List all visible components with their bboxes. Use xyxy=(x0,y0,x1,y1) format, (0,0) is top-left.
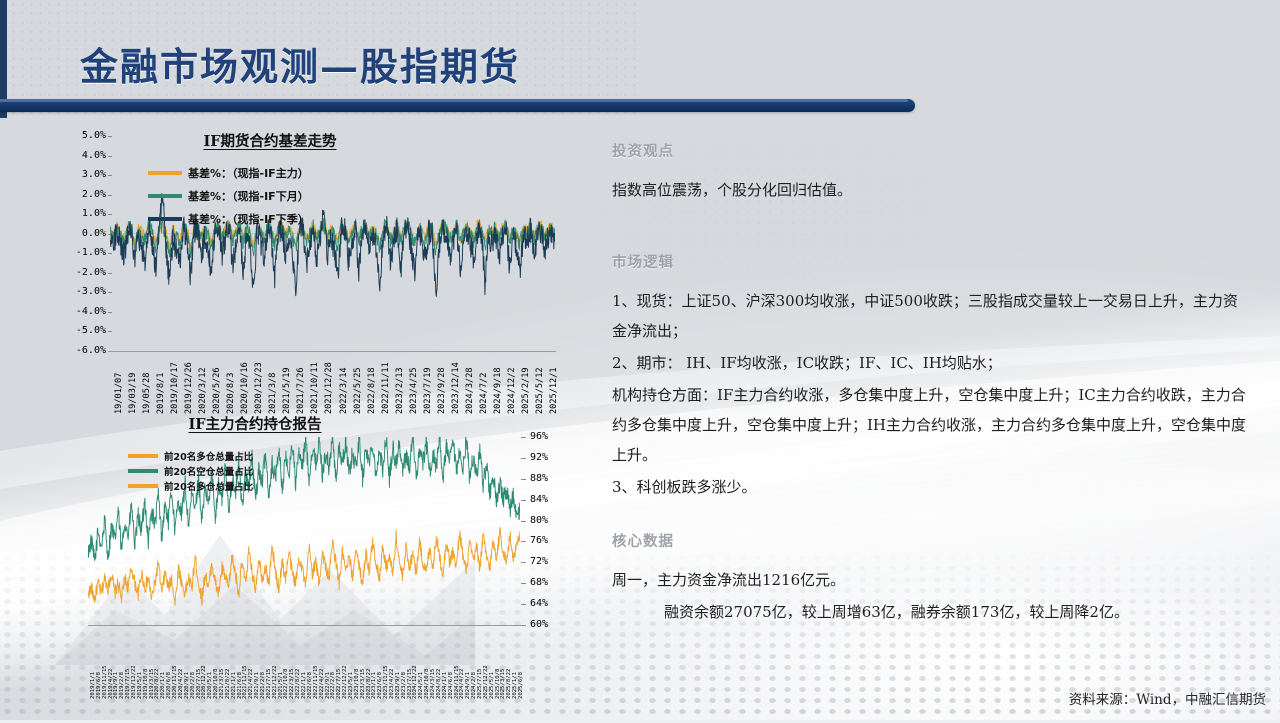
chart-positions-x-tick-label: 2024/6/8 xyxy=(448,672,454,699)
chart-positions-x-axis-labels: 2019/1/12019/6/82019/11/152019/4/222019/… xyxy=(88,629,523,701)
chart-positions-x-tick-label: 2024/8/22 xyxy=(436,669,442,699)
chart-positions-y-tick-label: 84% xyxy=(530,494,564,505)
legend-label: 基差%：（现指-IF主力） xyxy=(188,165,309,181)
chart-positions-legend-item: 前20名多仓总量占比 xyxy=(128,479,253,493)
chart-basis-x-tick-label: 2024/12/2 xyxy=(507,367,517,414)
chart-basis-x-tick-label: 2023/9/28 xyxy=(437,367,447,414)
chart-positions-x-tick-label: 2021/7/15 xyxy=(266,669,272,699)
source-note: 资料来源：Wind，中融汇信期货 xyxy=(1069,688,1266,708)
chart-basis-x-tick-label: 2024/3/28 xyxy=(465,367,475,414)
market-logic-institutional-positions: 机构持仓方面：IF主力合约收涨，多仓集中度上升，空仓集中度上升；IC主力合约收跌… xyxy=(612,380,1252,470)
chart-positions-x-tick-label: 2023/2/8 xyxy=(401,672,407,699)
chart-basis-y-tick-label: -6.0% xyxy=(58,345,106,356)
chart-basis-x-tick-label: 2020/3/12 xyxy=(198,367,208,414)
chart-basis-x-tick-label: 2023/4/25 xyxy=(409,367,419,414)
chart-positions-y-tick xyxy=(521,458,526,459)
legend-label: 基差%：（现指-IF下月） xyxy=(188,188,309,204)
chart-basis-x-tick-label: 19/01/07 xyxy=(114,373,124,414)
chart-positions-y-tick xyxy=(521,479,526,480)
market-logic-point-2: 2、期市： IH、IF均收涨，IC收跌；IF、IC、IH均贴水； xyxy=(612,348,1252,378)
chart-positions-x-tick-label: 2023/10/8 xyxy=(354,669,360,699)
market-logic-point-1: 1、现货：上证50、沪深300均收涨，中证500收跌；三股指成交量较上一交易日上… xyxy=(612,286,1252,346)
chart-basis-x-tick-label: 2020/8/3 xyxy=(226,373,236,414)
legend-label: 前20名多仓总量占比 xyxy=(164,479,253,493)
chart-positions-y-tick-label: 64% xyxy=(530,598,564,609)
chart-positions-x-tick-label: 2025/12/22 xyxy=(483,665,489,699)
chart-basis-x-tick-label: 2022/5/25 xyxy=(353,367,363,414)
chart-positions-x-tick-label: 2025/6/8 xyxy=(518,672,523,699)
chart-basis-y-tick-label: 3.0% xyxy=(58,169,106,180)
chart-basis-x-tick-label: 2024/9/18 xyxy=(493,367,503,414)
section-heading-investment-view: 投资观点 xyxy=(612,140,1252,161)
investment-view-text: 指数高位震荡，个股分化回归估值。 xyxy=(612,175,1252,205)
chart-positions-x-tick-label: 2023/3/15 xyxy=(360,669,366,699)
chart-basis-x-tick-label: 2024/7/2 xyxy=(479,373,489,414)
chart-positions-y-tick xyxy=(521,562,526,563)
chart-positions-axis-line xyxy=(88,625,522,626)
chart-positions-x-tick-label: 2025/5/1 xyxy=(489,672,495,699)
chart-basis-x-tick-label: 2023/12/14 xyxy=(451,362,461,414)
chart-positions-x-tick-label: 2024/1/1 xyxy=(442,672,448,699)
chart-positions-x-tick-label: 2022/4/22 xyxy=(319,669,325,699)
chart-positions-y-tick xyxy=(521,604,526,605)
chart-positions-y-tick-label: 88% xyxy=(530,473,564,484)
chart-basis-legend-item: 基差%：（现指-IF下季） xyxy=(148,211,309,227)
chart-basis: IF期货合约基差走势 5.0%4.0%3.0%2.0%1.0%0.0%-1.0%… xyxy=(0,118,580,418)
chart-positions-y-tick-label: 80% xyxy=(530,515,564,526)
chart-positions-y-tick xyxy=(521,500,526,501)
chart-positions-legend-item: 前20名空仓总量占比 xyxy=(128,464,253,478)
chart-basis-x-tick-label: 2022/3/14 xyxy=(339,367,349,414)
chart-basis-x-tick-label: 2025/12/1 xyxy=(549,367,558,414)
chart-positions-x-tick-label: 2020/2/8 xyxy=(190,672,196,699)
chart-positions-y-tick xyxy=(521,437,526,438)
chart-basis-x-tick-label: 2019/8/1 xyxy=(156,373,166,414)
legend-color-swatch xyxy=(128,484,158,488)
analysis-panel: 投资观点 指数高位震荡，个股分化回归估值。 市场逻辑 1、现货：上证50、沪深3… xyxy=(612,140,1252,629)
chart-positions-x-tick-label: 2019/5/1 xyxy=(137,672,143,699)
chart-basis-y-tick-label: -5.0% xyxy=(58,325,106,336)
section-heading-core-data: 核心数据 xyxy=(612,530,1252,551)
page-title: 金融市场观测—股指期货 xyxy=(80,36,520,91)
legend-color-swatch xyxy=(148,194,182,198)
chart-basis-axis-line xyxy=(108,351,556,352)
chart-positions-y-tick xyxy=(521,521,526,522)
core-data-line-2: 融资余额27075亿，较上周增63亿，融券余额173亿，较上周降2亿。 xyxy=(612,597,1252,627)
chart-basis-x-tick-label: 2021/10/11 xyxy=(310,362,320,414)
chart-positions-x-tick-label: 2019/6/8 xyxy=(96,672,102,699)
chart-positions-legend-item: 前20名多仓总量占比 xyxy=(128,449,253,463)
legend-label: 前20名空仓总量占比 xyxy=(164,464,253,478)
chart-positions: IF主力合约持仓报告 96%92%88%84%80%76%72%68%64%60… xyxy=(0,413,580,723)
chart-basis-x-tick-label: 2025/2/19 xyxy=(521,367,531,414)
legend-color-swatch xyxy=(148,171,182,175)
chart-basis-x-tick-label: 2021/7/26 xyxy=(296,367,306,414)
chart-positions-y-tick-label: 68% xyxy=(530,577,564,588)
chart-basis-y-tick-label: 2.0% xyxy=(58,189,106,200)
chart-basis-x-tick-label: 2020/12/23 xyxy=(254,362,264,414)
chart-basis-y-tick-label: 4.0% xyxy=(58,150,106,161)
section-heading-market-logic: 市场逻辑 xyxy=(612,251,1252,272)
chart-basis-x-tick-label: 2025/5/12 xyxy=(535,367,545,414)
market-logic-point-3: 3、科创板跌多涨少。 xyxy=(612,472,1252,502)
chart-basis-y-tick-label: 1.0% xyxy=(58,208,106,219)
spacer xyxy=(612,504,1252,530)
title-underline-highlight xyxy=(0,99,908,102)
chart-basis-legend-item: 基差%：（现指-IF下月） xyxy=(148,188,309,204)
legend-color-swatch xyxy=(148,217,182,221)
chart-basis-y-tick-label: -4.0% xyxy=(58,306,106,317)
chart-positions-x-tick-label: 2020/9/1 xyxy=(184,672,190,699)
chart-basis-x-tick-label: 19/05/28 xyxy=(142,373,152,414)
chart-positions-x-tick-label: 2021/8/22 xyxy=(225,669,231,699)
legend-label: 前20名多仓总量占比 xyxy=(164,449,253,463)
chart-basis-x-tick-label: 2021/5/19 xyxy=(282,367,292,414)
chart-positions-y-tick xyxy=(521,541,526,542)
chart-basis-x-tick-label: 2020/10/16 xyxy=(240,362,250,414)
title-band: 金融市场观测—股指期货 xyxy=(0,0,1280,118)
chart-basis-x-tick-label: 2020/5/26 xyxy=(212,367,222,414)
chart-positions-y-tick-label: 76% xyxy=(530,535,564,546)
chart-basis-y-tick-label: -1.0% xyxy=(58,247,106,258)
charts-column: IF期货合约基差走势 5.0%4.0%3.0%2.0%1.0%0.0%-1.0%… xyxy=(0,118,580,718)
legend-color-swatch xyxy=(128,454,158,458)
chart-basis-y-tick-label: 0.0% xyxy=(58,228,106,239)
legend-color-swatch xyxy=(128,469,158,473)
chart-positions-x-tick-label: 2023/9/1 xyxy=(395,672,401,699)
chart-basis-x-tick-label: 2022/8/18 xyxy=(367,367,377,414)
chart-basis-x-tick-label: 2021/12/28 xyxy=(324,362,334,414)
chart-positions-x-tick-label: 2019/11/15 xyxy=(102,665,108,699)
chart-basis-x-tick-label: 2022/11/11 xyxy=(381,362,391,414)
chart-basis-x-tick-label: 2019/10/17 xyxy=(170,362,180,414)
chart-positions-x-tick-label: 2021/1/1 xyxy=(231,672,237,699)
chart-basis-x-tick-label: 2021/3/8 xyxy=(268,373,278,414)
chart-basis-y-tick-label: 5.0% xyxy=(58,130,106,141)
chart-basis-x-tick-label: 2023/7/19 xyxy=(423,367,433,414)
chart-positions-y-tick-label: 60% xyxy=(530,619,564,630)
spacer xyxy=(612,207,1252,251)
chart-positions-x-tick-label: 2019/10/8 xyxy=(143,669,149,699)
core-data-line-1: 周一，主力资金净流出1216亿元。 xyxy=(612,565,1252,595)
chart-basis-x-tick-label: 19/03/19 xyxy=(128,373,138,414)
chart-basis-legend-item: 基差%：（现指-IF主力） xyxy=(148,165,309,181)
chart-positions-y-tick-label: 92% xyxy=(530,452,564,463)
chart-positions-y-tick-label: 96% xyxy=(530,431,564,442)
chart-basis-x-axis-labels: 19/01/0719/03/1919/05/282019/8/12019/10/… xyxy=(108,354,558,416)
chart-positions-y-tick-label: 72% xyxy=(530,556,564,567)
chart-positions-x-tick-label: 2021/12/22 xyxy=(272,665,278,699)
chart-basis-y-tick-label: -2.0% xyxy=(58,267,106,278)
chart-positions-x-tick-label: 2022/11/15 xyxy=(313,665,319,699)
legend-label: 基差%：（现指-IF下季） xyxy=(188,211,309,227)
chart-basis-x-tick-label: 2019/12/26 xyxy=(184,362,194,414)
chart-positions-title: IF主力合约持仓报告 xyxy=(110,413,400,434)
chart-basis-x-tick-label: 2023/2/13 xyxy=(395,367,405,414)
chart-basis-y-tick-label: -3.0% xyxy=(58,286,106,297)
chart-positions-y-tick xyxy=(521,583,526,584)
